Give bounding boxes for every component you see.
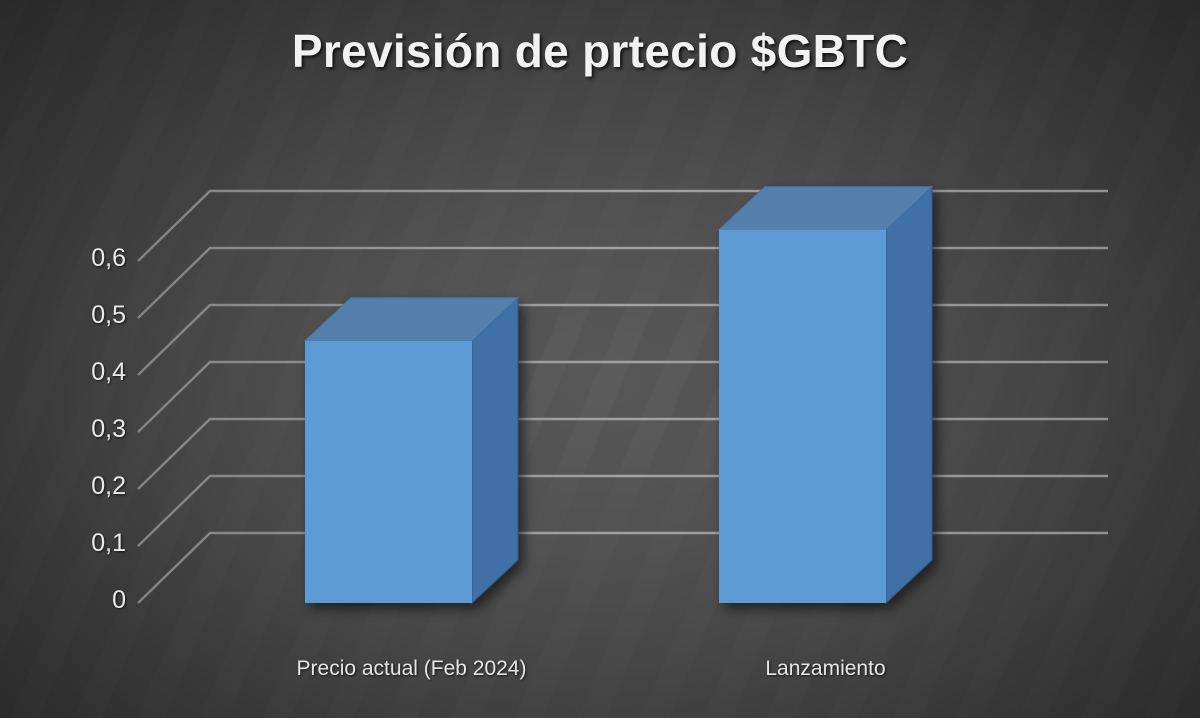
plot-area — [0, 0, 1200, 718]
gridline — [138, 191, 1108, 261]
chart-container: Previsión de prtecio $GBTC 00,10,20,30,4… — [0, 0, 1200, 718]
y-axis-tick-label: 0,5 — [91, 301, 126, 330]
y-axis-tick-label: 0,3 — [91, 415, 126, 444]
gridline — [138, 476, 1108, 546]
bar-column[interactable] — [305, 298, 518, 603]
gridline — [138, 305, 1108, 375]
gridline — [138, 533, 1108, 603]
y-axis-tick-label: 0,2 — [91, 472, 126, 501]
y-axis-tick-label: 0,6 — [91, 244, 126, 273]
gridline — [138, 362, 1108, 432]
y-axis-tick-label: 0,4 — [91, 358, 126, 387]
bar-front-face — [305, 341, 472, 603]
gridline — [138, 248, 1108, 318]
y-axis-tick-label: 0 — [112, 586, 126, 615]
bar-front-face — [719, 230, 886, 603]
x-axis-category-label: Lanzamiento — [226, 657, 1200, 681]
gridline — [138, 419, 1108, 489]
bar-side-face — [472, 298, 518, 603]
bar-side-face — [886, 187, 932, 603]
gridlines — [138, 191, 1108, 603]
y-axis-tick-label: 0,1 — [91, 529, 126, 558]
bar-column[interactable] — [719, 187, 932, 603]
